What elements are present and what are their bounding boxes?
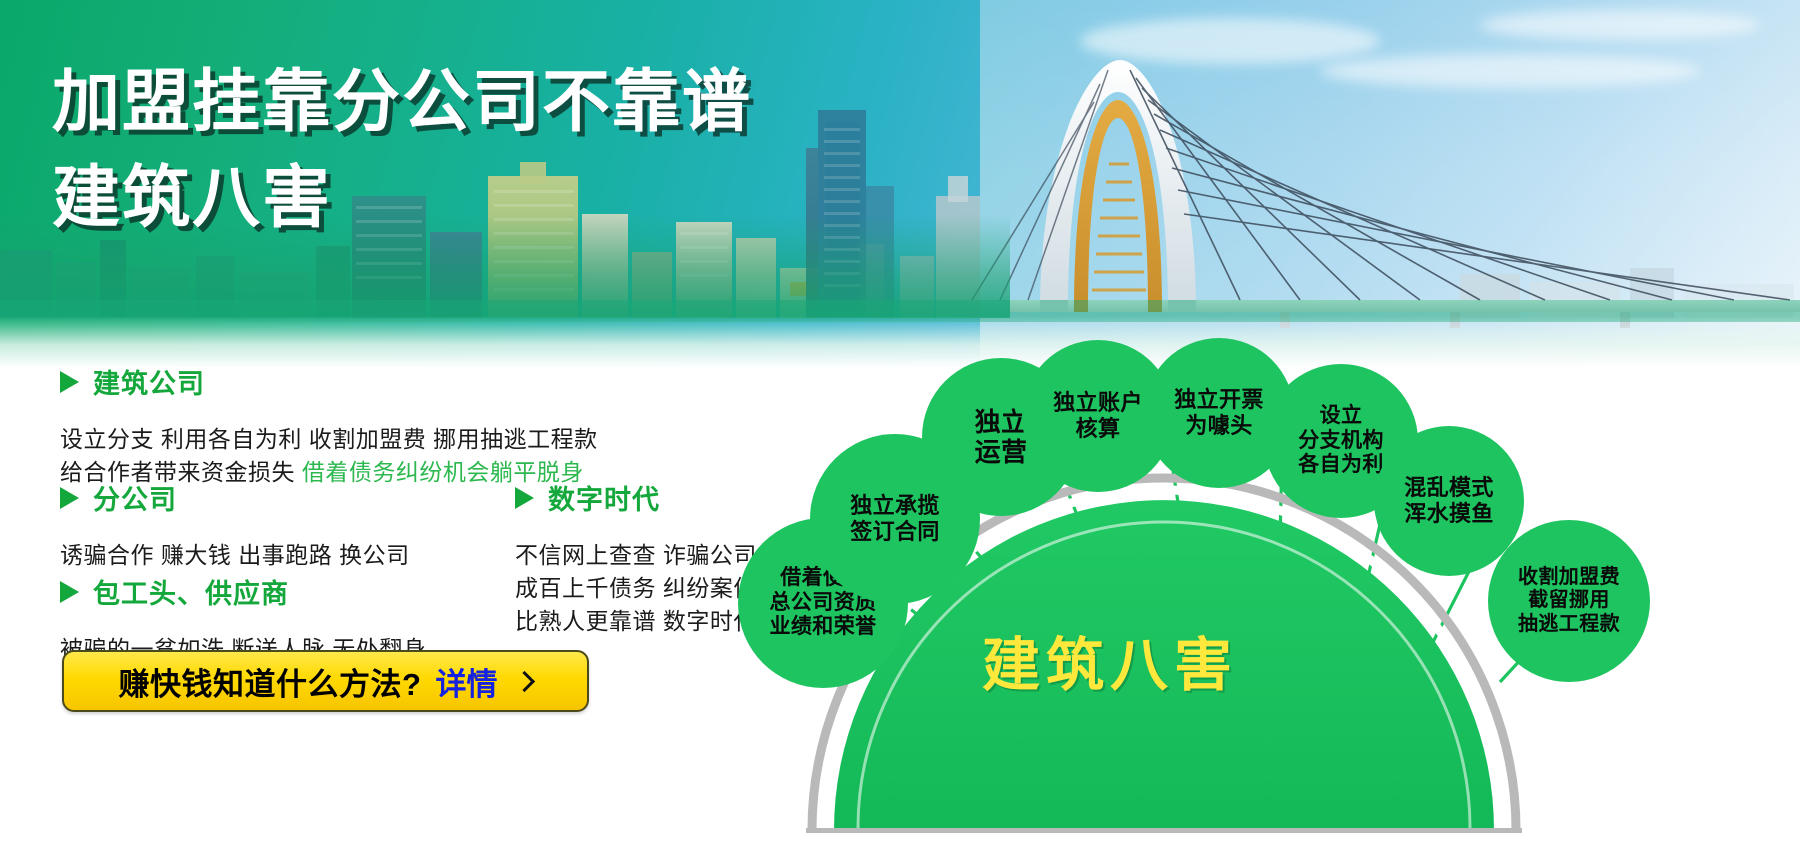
section-heading-contractor-supplier: 包工头、供应商: [60, 572, 426, 611]
body-line: 比熟人更靠谱 数字时代: [515, 605, 757, 638]
body-text-black: 设立分支 利用各自为利 收割加盟费 挪用抽逃工程款: [60, 426, 598, 452]
bubble-diagram: 建筑八害 借着使用 总公司资质 业绩和荣誉 独立承揽 签订合同 独立 运营 独立…: [800, 330, 1800, 844]
bubble-line: 混乱模式: [1404, 475, 1494, 501]
bubble-line: 独立: [975, 407, 1028, 437]
hero-title-line-2: 建筑八害: [52, 154, 752, 244]
left-content-column: 建筑公司 设立分支 利用各自为利 收割加盟费 挪用抽逃工程款 给合作者带来资金损…: [0, 382, 800, 844]
bubble-line: 浑水摸鱼: [1404, 501, 1494, 527]
bubble-line: 运营: [975, 437, 1028, 467]
body-text-black: 不信网上查查 诈骗公司: [515, 542, 757, 568]
section-heading-label: 数字时代: [548, 478, 660, 517]
bubble-line: 独立承揽: [850, 493, 940, 519]
bubble-line: 各自为利: [1298, 453, 1384, 477]
chevron-right-icon: [514, 670, 535, 691]
dome-title-label: 建筑八害: [982, 618, 1238, 702]
section-heading-digital-era: 数字时代: [515, 478, 757, 517]
bubble-line: 抽逃工程款: [1518, 613, 1620, 636]
section-body-digital-era: 不信网上查查 诈骗公司 成百上千债务 纠纷案件 比熟人更靠谱 数字时代: [515, 539, 757, 638]
section-heading-label: 包工头、供应商: [93, 572, 289, 611]
section-heading-label: 建筑公司: [93, 362, 205, 401]
bubble-line: 业绩和荣誉: [770, 615, 877, 639]
page-root: 加盟挂靠分公司不靠谱 建筑八害 建筑公司 设立分支 利用各自为利 收割加盟费 挪…: [0, 0, 1800, 844]
hero-title-group: 加盟挂靠分公司不靠谱 建筑八害: [52, 58, 752, 244]
bubble-line: 分支机构: [1298, 429, 1384, 453]
section-heading-branch-company: 分公司: [60, 478, 410, 517]
bubble-line: 独立账户: [1053, 390, 1143, 416]
section-heading-construction-company: 建筑公司: [60, 362, 598, 401]
bubble-line: 核算: [1053, 416, 1143, 442]
cta-link-label[interactable]: 详情: [435, 659, 497, 704]
body-line: 不信网上查查 诈骗公司: [515, 539, 757, 572]
bubble-line: 为噱头: [1174, 413, 1264, 439]
hero-title-line-1: 加盟挂靠分公司不靠谱: [52, 58, 752, 148]
hero-banner: 加盟挂靠分公司不靠谱 建筑八害: [0, 0, 1800, 368]
triangle-bullet-icon: [515, 487, 534, 509]
bubble-line: 签订合同: [850, 519, 940, 545]
body-line: 成百上千债务 纠纷案件: [515, 572, 757, 605]
section-body-branch-company: 诱骗合作 赚大钱 出事跑路 换公司: [60, 539, 410, 572]
bubble-chaotic-mode[interactable]: 混乱模式 浑水摸鱼: [1374, 426, 1524, 576]
bubble-line: 独立开票: [1174, 387, 1264, 413]
section-digital-era: 数字时代 不信网上查查 诈骗公司 成百上千债务 纠纷案件 比熟人更靠谱 数字时代: [515, 478, 757, 638]
section-branch-company: 分公司 诱骗合作 赚大钱 出事跑路 换公司: [60, 478, 410, 572]
cta-details-button[interactable]: 赚快钱知道什么方法? 详情: [62, 650, 589, 712]
triangle-bullet-icon: [60, 487, 79, 509]
triangle-bullet-icon: [60, 581, 79, 603]
bubble-line: 收割加盟费: [1518, 566, 1620, 589]
bubble-harvest-fees[interactable]: 收割加盟费 截留挪用 抽逃工程款: [1488, 520, 1650, 682]
section-heading-label: 分公司: [93, 478, 177, 517]
section-construction-company: 建筑公司 设立分支 利用各自为利 收割加盟费 挪用抽逃工程款 给合作者带来资金损…: [60, 362, 598, 489]
body-line: 诱骗合作 赚大钱 出事跑路 换公司: [60, 539, 410, 572]
triangle-bullet-icon: [60, 371, 79, 393]
bubble-line: 设立: [1298, 404, 1384, 428]
body-text-black: 成百上千债务 纠纷案件: [515, 575, 757, 601]
cta-main-label: 赚快钱知道什么方法?: [119, 659, 422, 704]
body-text-black: 诱骗合作 赚大钱 出事跑路 换公司: [60, 542, 410, 568]
bubble-line: 截留挪用: [1518, 589, 1620, 612]
body-line: 设立分支 利用各自为利 收割加盟费 挪用抽逃工程款: [60, 423, 598, 456]
body-text-black: 比熟人更靠谱 数字时代: [515, 608, 757, 634]
